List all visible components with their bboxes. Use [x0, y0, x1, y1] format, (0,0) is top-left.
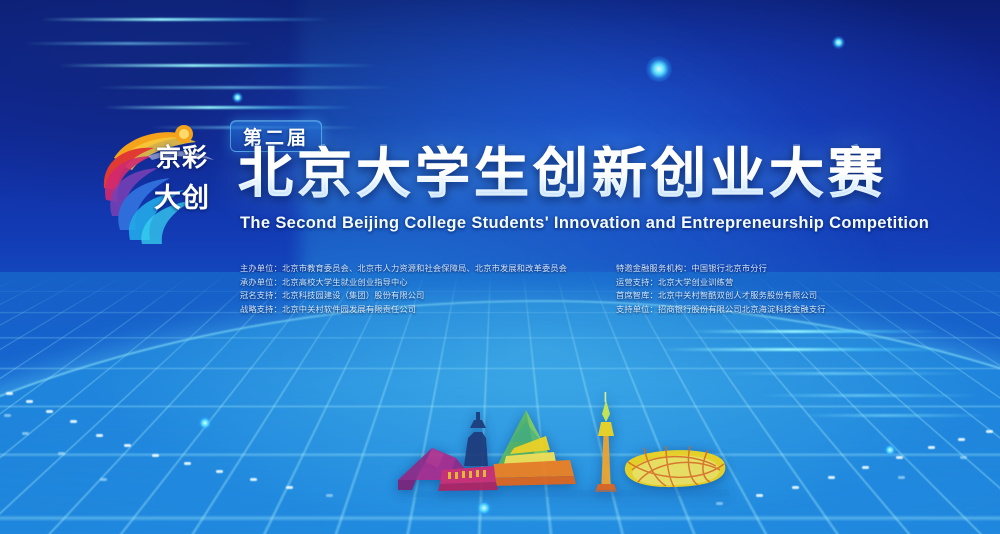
- light-streak: [58, 64, 378, 67]
- page-title: 北京大学生创新创业大赛: [238, 146, 887, 201]
- motion-trail: [4, 414, 11, 417]
- light-streak: [660, 348, 960, 351]
- glow-dot: [198, 416, 212, 430]
- motion-trail: [326, 494, 333, 497]
- motion-trail: [6, 392, 13, 395]
- skyline-icon: [398, 392, 738, 500]
- motion-trail: [756, 494, 763, 497]
- motion-trail: [896, 456, 903, 459]
- motion-trail: [286, 486, 293, 489]
- credit-line: 战略支持：北京中关村软件园发展有限责任公司: [240, 303, 567, 317]
- motion-trail: [216, 470, 223, 473]
- glow-dot: [832, 36, 845, 49]
- motion-trail: [960, 456, 967, 459]
- motion-trail: [898, 476, 905, 479]
- credit-line: 冠名支持：北京科技园建设（集团）股份有限公司: [240, 289, 567, 303]
- motion-trail: [928, 446, 935, 449]
- poster-canvas: 京彩 大创 第二届 北京大学生创新创业大赛 The Second Beijing…: [0, 0, 1000, 534]
- motion-trail: [70, 420, 77, 423]
- credit-line: 特邀金融服务机构：中国银行北京市分行: [616, 262, 826, 276]
- motion-trail: [250, 478, 257, 481]
- motion-trail: [58, 452, 65, 455]
- motion-trail: [22, 432, 29, 435]
- motion-trail: [958, 438, 965, 441]
- light-streak: [800, 414, 990, 417]
- light-streak: [24, 42, 254, 45]
- beijing-skyline-illustration: [398, 392, 738, 500]
- event-logo: 京彩 大创: [96, 112, 228, 244]
- motion-trail: [152, 454, 159, 457]
- page-subtitle: The Second Beijing College Students' Inn…: [240, 214, 929, 233]
- light-streak: [104, 106, 354, 109]
- credit-line: 首席智库：北京中关村智酷双创人才服务股份有限公司: [616, 289, 826, 303]
- logo-calligraphy: 京彩 大创: [154, 138, 232, 230]
- light-streak: [720, 372, 970, 375]
- motion-trail: [100, 478, 107, 481]
- motion-trail: [792, 486, 799, 489]
- credit-line: 支持单位：招商银行股份有限公司北京海淀科技金融支行: [616, 303, 826, 317]
- glow-dot: [646, 56, 672, 82]
- glow-dot: [884, 444, 896, 456]
- glow-dot: [476, 500, 492, 516]
- logo-line-2: 大创: [154, 183, 210, 214]
- motion-trail: [26, 400, 33, 403]
- motion-trail: [716, 502, 723, 505]
- credit-line: 运营支持：北京大学创业训练营: [616, 276, 826, 290]
- light-streak: [690, 330, 940, 333]
- logo-line-1: 京彩: [156, 143, 208, 172]
- glow-dot: [232, 92, 243, 103]
- light-streak: [40, 18, 330, 21]
- light-streak: [760, 394, 980, 397]
- credits-left: 主办单位：北京市教育委员会、北京市人力资源和社会保障局、北京市发展和改革委员会 …: [240, 262, 567, 316]
- motion-trail: [124, 444, 131, 447]
- credits-right: 特邀金融服务机构：中国银行北京市分行 运营支持：北京大学创业训练营 首席智库：北…: [616, 262, 826, 316]
- credit-line: 承办单位：北京高校大学生就业创业指导中心: [240, 276, 567, 290]
- motion-trail: [184, 462, 191, 465]
- motion-trail: [828, 476, 835, 479]
- motion-trail: [46, 410, 53, 413]
- light-streak: [96, 86, 396, 89]
- credit-line: 主办单位：北京市教育委员会、北京市人力资源和社会保障局、北京市发展和改革委员会: [240, 262, 567, 276]
- motion-trail: [986, 430, 993, 433]
- motion-trail: [96, 434, 103, 437]
- motion-trail: [862, 466, 869, 469]
